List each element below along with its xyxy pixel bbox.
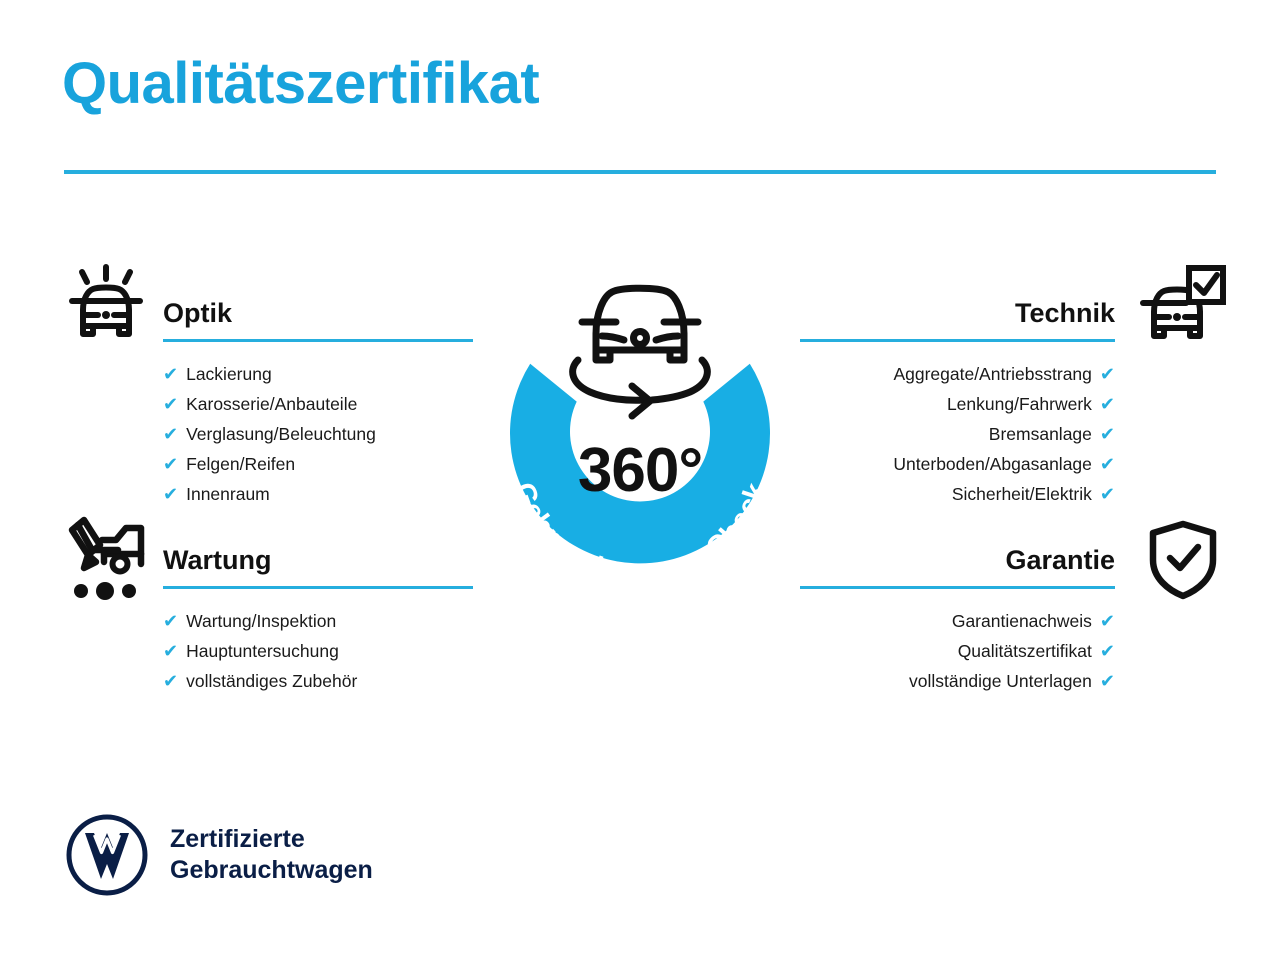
list-item-label: Karosserie/Anbauteile	[186, 389, 357, 419]
check-icon: ✔	[1100, 606, 1115, 636]
section-divider	[163, 586, 473, 589]
list-item-label: Felgen/Reifen	[186, 449, 295, 479]
vw-certified-logo: Zertifizierte Gebrauchtwagen	[64, 812, 373, 898]
checklist-technik: Aggregate/Antriebsstrang ✔ Lenkung/Fahrw…	[800, 359, 1115, 509]
section-wartung: Wartung ✔ Wartung/Inspektion ✔ Hauptunte…	[163, 543, 473, 696]
list-item-label: Verglasung/Beleuchtung	[186, 419, 376, 449]
car-checkbox-icon	[1136, 262, 1228, 350]
list-item: Sicherheit/Elektrik ✔	[800, 479, 1115, 509]
section-title: Garantie	[800, 543, 1115, 577]
list-item-label: Aggregate/Antriebsstrang	[893, 359, 1091, 389]
list-item: ✔ Felgen/Reifen	[163, 449, 473, 479]
check-icon: ✔	[163, 449, 178, 479]
section-garantie: Garantie Garantienachweis ✔ Qualitätszer…	[800, 543, 1115, 696]
car-shine-icon	[60, 258, 152, 350]
list-item-label: Wartung/Inspektion	[186, 606, 336, 636]
list-item-label: Sicherheit/Elektrik	[952, 479, 1092, 509]
check-icon: ✔	[163, 666, 178, 696]
check-icon: ✔	[163, 359, 178, 389]
checklist-optik: ✔ Lackierung ✔ Karosserie/Anbauteile ✔ V…	[163, 359, 473, 509]
list-item-label: Unterboden/Abgasanlage	[893, 449, 1092, 479]
list-item: ✔ Wartung/Inspektion	[163, 606, 473, 636]
shield-check-icon	[1146, 518, 1220, 602]
list-item: ✔ Hauptuntersuchung	[163, 636, 473, 666]
list-item: ✔ Karosserie/Anbauteile	[163, 389, 473, 419]
check-icon: ✔	[163, 636, 178, 666]
section-title: Technik	[800, 296, 1115, 330]
list-item-label: Lackierung	[186, 359, 272, 389]
section-header: Optik	[163, 296, 473, 342]
list-item: ✔ Lackierung	[163, 359, 473, 389]
list-item: Garantienachweis ✔	[800, 606, 1115, 636]
section-header: Garantie	[800, 543, 1115, 589]
section-technik: Technik Aggregate/Antriebsstrang ✔ Lenku…	[800, 296, 1115, 509]
check-icon: ✔	[1100, 389, 1115, 419]
section-title: Optik	[163, 296, 473, 330]
list-item: ✔ vollständiges Zubehör	[163, 666, 473, 696]
car-rotate-icon	[573, 288, 708, 416]
list-item-label: Hauptuntersuchung	[186, 636, 339, 666]
vw-logo-icon	[64, 812, 150, 898]
list-item: ✔ Innenraum	[163, 479, 473, 509]
page-title: Qualitätszertifikat	[62, 54, 539, 115]
section-divider	[163, 339, 473, 342]
check-icon: ✔	[163, 389, 178, 419]
section-header: Wartung	[163, 543, 473, 589]
list-item: Unterboden/Abgasanlage ✔	[800, 449, 1115, 479]
section-title: Wartung	[163, 543, 473, 577]
badge-360-check: Gebrauchtwagen-Check 360°	[462, 258, 818, 630]
list-item: Lenkung/Fahrwerk ✔	[800, 389, 1115, 419]
checklist-garantie: Garantienachweis ✔ Qualitätszertifikat ✔…	[800, 606, 1115, 696]
section-optik: Optik ✔ Lackierung ✔ Karosserie/Anbautei…	[163, 296, 473, 509]
list-item: Qualitätszertifikat ✔	[800, 636, 1115, 666]
list-item: Aggregate/Antriebsstrang ✔	[800, 359, 1115, 389]
list-item-label: Qualitätszertifikat	[958, 636, 1092, 666]
list-item-label: Garantienachweis	[952, 606, 1092, 636]
list-item-label: vollständige Unterlagen	[909, 666, 1092, 696]
checklist-wartung: ✔ Wartung/Inspektion ✔ Hauptuntersuchung…	[163, 606, 473, 696]
check-icon: ✔	[1100, 419, 1115, 449]
badge-number: 360°	[462, 440, 818, 502]
list-item: vollständige Unterlagen ✔	[800, 666, 1115, 696]
list-item: ✔ Verglasung/Beleuchtung	[163, 419, 473, 449]
check-icon: ✔	[163, 606, 178, 636]
check-icon: ✔	[163, 479, 178, 509]
check-icon: ✔	[1100, 359, 1115, 389]
check-icon: ✔	[1100, 479, 1115, 509]
title-divider	[64, 170, 1216, 174]
check-icon: ✔	[1100, 449, 1115, 479]
check-icon: ✔	[163, 419, 178, 449]
section-header: Technik	[800, 296, 1115, 342]
section-divider	[800, 586, 1115, 589]
check-icon: ✔	[1100, 666, 1115, 696]
list-item-label: Bremsanlage	[989, 419, 1092, 449]
list-item-label: Innenraum	[186, 479, 270, 509]
list-item-label: vollständiges Zubehör	[186, 666, 357, 696]
footer-logo-text: Zertifizierte Gebrauchtwagen	[170, 824, 373, 886]
car-service-pencil-icon	[58, 512, 154, 604]
check-icon: ✔	[1100, 636, 1115, 666]
list-item: Bremsanlage ✔	[800, 419, 1115, 449]
section-divider	[800, 339, 1115, 342]
list-item-label: Lenkung/Fahrwerk	[947, 389, 1092, 419]
